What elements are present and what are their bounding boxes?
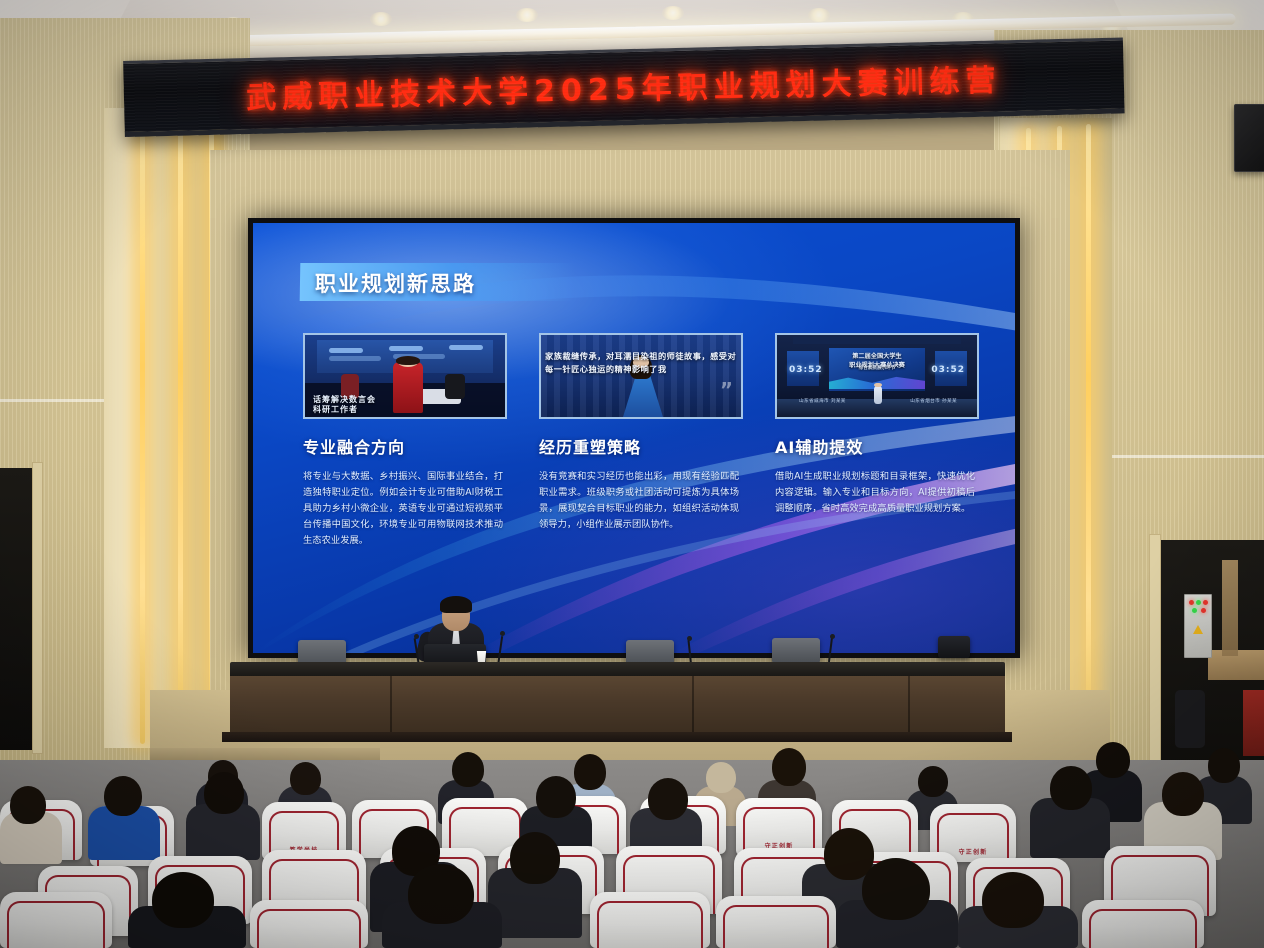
desk-base — [222, 732, 1012, 742]
thumb-caption: 话筹解决数言会 科研工作者 — [313, 395, 376, 415]
contestant-blue-dress-photo: 家族裁缝传承，对耳濡目染祖的师徒故事，感受对每一针匠心独运的精神影响了我 ” — [539, 333, 743, 419]
audience-member-head — [510, 832, 560, 884]
quote-mark-icon: ” — [720, 378, 733, 402]
indicator-light-green — [1192, 608, 1197, 613]
microphone-head — [830, 634, 835, 639]
timer-right: 03:52 — [931, 365, 965, 375]
downlight — [808, 8, 830, 22]
slide-column-3: 第二届全国大学生 职业规划大赛总决赛 综合素质展示环节 03:52 03:52 … — [775, 333, 975, 633]
fire-extinguisher-box — [1243, 690, 1264, 756]
microphone-head — [687, 636, 692, 641]
seat — [1082, 900, 1204, 948]
stage-label-right: 山东省烟台市 孙某某 — [910, 398, 957, 404]
stage-step — [150, 748, 380, 760]
seat — [0, 892, 112, 948]
slide-column-2: 家族裁缝传承，对耳濡目染祖的师徒故事，感受对每一针匠心独运的精神影响了我 ” 经… — [539, 333, 739, 633]
accent-light-strip — [1086, 124, 1091, 756]
slide-canvas: 职业规划新思路 — [253, 223, 1015, 653]
wood-partition — [1222, 560, 1238, 656]
presentation-screen: 职业规划新思路 — [248, 218, 1020, 658]
downlight — [516, 8, 538, 22]
desk-panel-seam — [692, 676, 694, 732]
slide-columns: 话筹解决数言会 科研工作者 专业融合方向 将专业与大数据、乡村振兴、国际事业结合… — [303, 333, 975, 633]
electrical-control-panel — [1184, 594, 1212, 658]
presenter-hair — [440, 596, 472, 613]
laptop-right-b — [772, 638, 820, 662]
led-banner-text: 武威职业技术大学2025年职业规划大赛训练营 — [246, 55, 1002, 117]
forum-stage-photo: 话筹解决数言会 科研工作者 — [303, 333, 507, 419]
downlight — [370, 12, 392, 26]
microphone-head — [414, 634, 419, 639]
national-competition-final-photo: 第二届全国大学生 职业规划大赛总决赛 综合素质展示环节 03:52 03:52 … — [775, 333, 979, 419]
warning-triangle-icon — [1193, 625, 1203, 634]
audience-member-head — [408, 864, 474, 924]
slide-column-1: 话筹解决数言会 科研工作者 专业融合方向 将专业与大数据、乡村振兴、国际事业结合… — [303, 333, 503, 633]
audience-member-head — [862, 858, 930, 920]
audience-member-head — [918, 766, 948, 797]
audience-member-head — [706, 762, 736, 793]
audience-member-head — [104, 776, 142, 816]
audience-member-head — [1208, 748, 1240, 783]
slide-title: 职业规划新思路 — [315, 268, 476, 298]
microphone-head — [500, 631, 505, 636]
indicator-light-red — [1201, 608, 1206, 613]
audience-member-head — [1050, 766, 1092, 810]
audience-member-head — [536, 776, 576, 818]
audience-member-head — [10, 786, 46, 824]
competition-subtitle: 综合素质展示环节 — [833, 366, 921, 373]
office-chair — [1175, 690, 1205, 748]
lecture-hall-photo: 武威职业技术大学2025年职业规划大赛训练营 — [0, 0, 1264, 948]
desk-panel-seam — [908, 676, 910, 732]
accent-light-strip — [178, 116, 183, 744]
thumb-quote: 家族裁缝传承，对耳濡目染祖的师徒故事，感受对每一针匠心独运的精神影响了我 — [545, 350, 737, 377]
indicator-light-green — [1196, 600, 1201, 605]
doorway-left — [0, 468, 36, 750]
laptop-right-a — [626, 640, 674, 664]
column-3-heading: AI辅助提效 — [775, 434, 975, 458]
audience-member-head — [772, 748, 806, 786]
door-frame-left — [32, 462, 43, 754]
downlight — [662, 6, 684, 20]
audience-member-head — [648, 778, 688, 820]
wall-speaker — [1234, 104, 1264, 172]
audience-member-head — [574, 754, 606, 790]
column-1-body: 将专业与大数据、乡村振兴、国际事业结合，打造独特职业定位。例如会计专业可借助AI… — [303, 469, 503, 549]
column-2-heading: 经历重塑策略 — [539, 434, 739, 458]
seat-cover-text: 守正创新 — [959, 847, 988, 856]
laptop-far-right — [938, 636, 970, 658]
audience-member-head — [1096, 742, 1130, 778]
desk-front-panel — [230, 676, 1005, 732]
column-3-body: 借助AI生成职业规划标题和目录框架，快速优化内容逻辑。输入专业和目标方向，AI提… — [775, 469, 975, 517]
audience-member-head — [1162, 772, 1204, 816]
desk-top — [230, 662, 1005, 676]
stage-label-left: 山东省威海市 刘某某 — [799, 398, 846, 404]
seat — [590, 892, 710, 948]
audience-member-head — [290, 762, 321, 795]
wall-trim-right — [1112, 455, 1264, 458]
column-2-body: 没有竞赛和实习经历也能出彩，用现有经验匹配职业需求。班级职务或社团活动可提炼为具… — [539, 469, 739, 533]
column-1-heading: 专业融合方向 — [303, 434, 503, 458]
indicator-light-red — [1203, 600, 1208, 605]
seat — [250, 900, 368, 948]
audience-member-head — [204, 772, 244, 814]
indicator-light-red — [1189, 600, 1194, 605]
seat — [716, 896, 836, 948]
desk-panel-seam — [390, 676, 392, 732]
audience-member-head — [452, 752, 484, 787]
audience-member-head — [982, 872, 1044, 928]
audience-member-head — [152, 872, 214, 928]
timer-left: 03:52 — [789, 365, 823, 375]
wall-trim-left — [0, 399, 104, 402]
accent-light-strip — [140, 114, 145, 744]
